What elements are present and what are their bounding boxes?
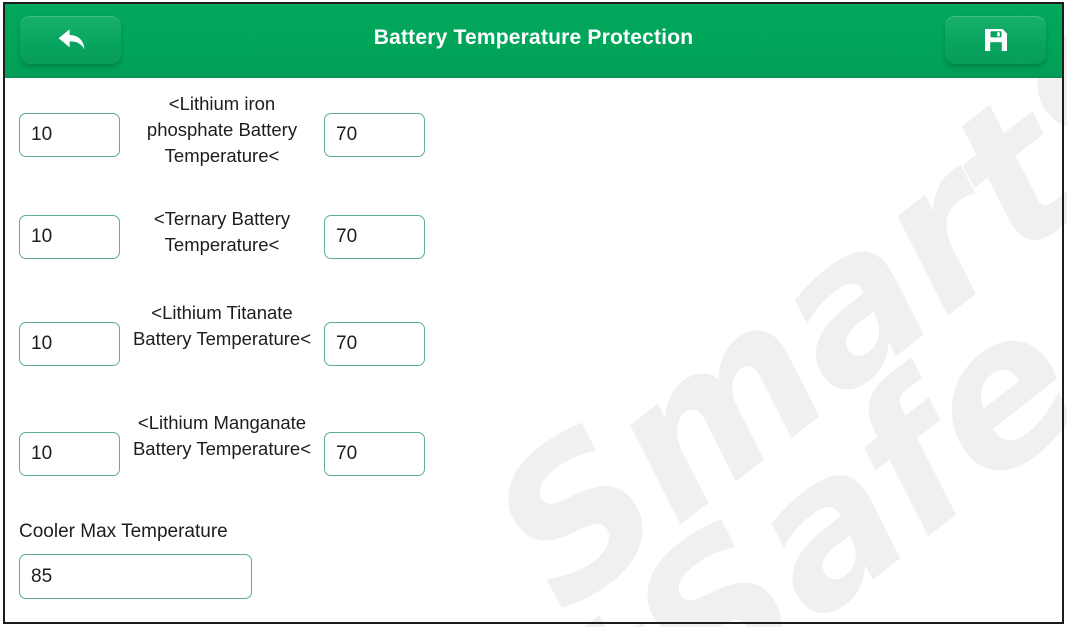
lithium-manganate-min-input[interactable]	[19, 432, 120, 476]
cooler-max-temperature-input[interactable]	[19, 554, 252, 599]
lithium-iron-phosphate-min-input[interactable]	[19, 113, 120, 157]
cooler-max-temperature-label: Cooler Max Temperature	[19, 521, 252, 543]
settings-form: <Lithium iron phosphate Battery Temperat…	[5, 78, 1062, 623]
cooler-max-temperature-section: Cooler Max Temperature	[19, 521, 252, 599]
lithium-iron-phosphate-label: <Lithium iron phosphate Battery Temperat…	[126, 91, 318, 169]
ternary-battery-min-input[interactable]	[19, 215, 120, 259]
lithium-titanate-label: <Lithium Titanate Battery Temperature<	[126, 300, 318, 352]
temperature-range-row: <Lithium Manganate Battery Temperature<	[5, 410, 435, 498]
lithium-titanate-min-input[interactable]	[19, 322, 120, 366]
lithium-manganate-label: <Lithium Manganate Battery Temperature<	[126, 410, 318, 462]
temperature-range-row: <Ternary Battery Temperature<	[5, 205, 435, 269]
ternary-battery-label: <Ternary Battery Temperature<	[126, 206, 318, 258]
save-button[interactable]	[945, 16, 1046, 64]
lithium-titanate-max-input[interactable]	[324, 322, 425, 366]
lithium-iron-phosphate-max-input[interactable]	[324, 113, 425, 157]
page-title: Battery Temperature Protection	[5, 26, 1062, 50]
lithium-manganate-max-input[interactable]	[324, 432, 425, 476]
temperature-range-row: <Lithium Titanate Battery Temperature<	[5, 300, 435, 388]
app-screen: SmartSafe SmartSafe Battery Temperature …	[0, 0, 1067, 627]
ternary-battery-max-input[interactable]	[324, 215, 425, 259]
save-floppy-icon	[982, 26, 1010, 54]
temperature-range-row: <Lithium iron phosphate Battery Temperat…	[5, 91, 435, 179]
app-header: Battery Temperature Protection	[5, 4, 1062, 78]
